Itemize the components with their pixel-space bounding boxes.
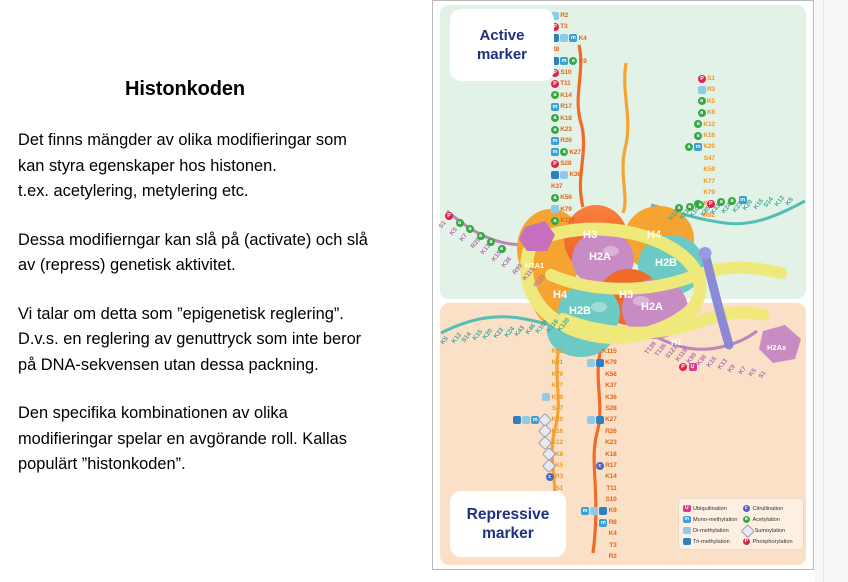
residue-row: mK9 — [581, 505, 617, 516]
residue-label: K79 — [560, 204, 572, 215]
residue-label: K36 — [569, 169, 581, 180]
paragraph-1: Det finns mängder av olika modifieringar… — [18, 128, 430, 205]
ac-icon: a — [498, 245, 506, 253]
residue-label: K79 — [552, 369, 564, 380]
core-label-h2a-top: H2A — [589, 251, 611, 263]
residue-row: K36 — [551, 169, 587, 180]
residue-label: K20 — [703, 141, 715, 152]
residue-label: S10 — [560, 67, 571, 78]
residue-label: K16 — [552, 426, 564, 437]
ac-icon: a — [569, 57, 577, 65]
residue-label: K59 — [703, 164, 715, 175]
residue-row: K5 — [463, 460, 563, 471]
residue-row: K79 — [685, 187, 715, 198]
residue-row: aK12 — [685, 119, 715, 130]
legend-item: mMono-methylation — [683, 514, 740, 525]
residue-label: K16 — [703, 130, 715, 141]
residue-row: R26 — [581, 426, 617, 437]
residue-label: K5 — [707, 96, 715, 107]
legend-item-label: Mono-methylation — [693, 517, 737, 523]
me1-icon: m — [551, 148, 559, 156]
legend-item-label: Sumoylation — [755, 528, 786, 534]
residue-label: K4 — [609, 528, 617, 539]
residue-label: R8 — [609, 517, 617, 528]
ac-icon: a — [487, 238, 495, 246]
residue-label: K9 — [579, 56, 587, 67]
me1-icon: m — [551, 137, 559, 145]
ac-icon: a — [477, 232, 485, 240]
residue-label: R17 — [605, 460, 617, 471]
paragraph-2: Dessa modifierngar kan slå på (activate)… — [18, 228, 430, 279]
residue-row: cR3 — [463, 471, 563, 482]
residue-row: PS1 — [685, 73, 715, 84]
residue-row: mR8 — [581, 517, 617, 528]
residue-row: K37 — [551, 181, 587, 192]
residue-label: K36 — [605, 392, 617, 403]
gutter-divider — [823, 0, 824, 582]
tail-repressive-h3: K115K79K56K37K36S28K27R26K23K18cR17K14T1… — [581, 346, 617, 562]
me1-icon: m — [569, 34, 577, 42]
residue-label: K37 — [551, 181, 563, 192]
residue-row: mK4 — [551, 33, 587, 44]
paragraph-4: Den specifika kombinationen av olikamodi… — [18, 401, 430, 478]
ac-icon: a — [551, 91, 559, 99]
legend-item: Sumoylation — [743, 525, 800, 536]
residue-row: maK9 — [551, 56, 587, 67]
residue-row: PT11 — [551, 78, 587, 89]
residue-label: K115 — [602, 346, 617, 357]
residue-row: mK20 — [463, 414, 563, 425]
core-label-h4-top: H4 — [647, 229, 661, 241]
residue-label: K9 — [609, 505, 617, 516]
residue-row: aK56 — [551, 192, 587, 203]
residue-row: K79 — [581, 357, 617, 368]
residue-row: K27 — [581, 414, 617, 425]
legend-item: UUbiquitination — [683, 503, 740, 514]
residue-row: K56 — [581, 369, 617, 380]
ph-icon: P — [445, 212, 453, 220]
me2-icon — [542, 393, 550, 401]
slide-text-column: Histonkoden Det finns mängder av olika m… — [0, 0, 430, 582]
residue-label: K77 — [703, 176, 715, 187]
residue-row: K14 — [581, 471, 617, 482]
me2-icon — [551, 205, 559, 213]
h2a-ub-ph-group: P U — [679, 363, 697, 371]
residue-label: T11 — [560, 78, 570, 89]
residue-label: R2 — [560, 10, 568, 21]
core-label-h3-bottom: H3 — [619, 289, 633, 301]
residue-label: R2 — [609, 551, 617, 562]
residue-row: R3 — [685, 84, 715, 95]
ph-icon: P — [698, 75, 706, 83]
residue-row: cR17 — [581, 460, 617, 471]
residue-row: aK8 — [685, 107, 715, 118]
residue-label: R26 — [560, 135, 572, 146]
ci-icon: c — [596, 462, 604, 470]
residue-label: R3 — [555, 471, 563, 482]
ac-icon: a — [694, 120, 702, 128]
legend-item-label: Di-methylation — [693, 528, 729, 534]
residue-row: K16 — [463, 426, 563, 437]
residue-row: K59 — [463, 392, 563, 403]
tail-repressive-h4: R92K91K79K77K59S47mK20K16K12K8K5cR3S1 — [463, 346, 563, 494]
page-title: Histonkoden — [0, 78, 370, 101]
slide-body-copy: Det finns mängder av olika modifieringar… — [18, 128, 430, 478]
active-marker-label: Activemarker — [450, 9, 554, 81]
me2-icon — [590, 507, 598, 515]
ubiquitination-icon: U — [689, 363, 697, 371]
legend-item-label: Ubiquitination — [693, 506, 727, 512]
residue-label: K56 — [605, 369, 617, 380]
ac-icon: a — [686, 203, 694, 211]
me3-icon — [513, 416, 521, 424]
residue-row: K59 — [685, 164, 715, 175]
residue-row: R8 — [551, 44, 587, 55]
residue-row: S28 — [581, 403, 617, 414]
residue-label: K4 — [579, 33, 587, 44]
me1-icon: m — [739, 196, 747, 204]
residue-row: R2 — [551, 10, 587, 21]
ph-icon: P — [743, 538, 751, 546]
residue-row: PS10 — [551, 67, 587, 78]
residue-row: K4 — [581, 528, 617, 539]
residue-row: S47 — [685, 153, 715, 164]
residue-row: aK16 — [685, 130, 715, 141]
histone-code-diagram: H3 H2A H4 H2B H4 H3 H2B H2A H2A1 H2Ax H1… — [432, 0, 814, 570]
legend-item-label: Citrullination — [753, 506, 784, 512]
me3-icon — [683, 538, 691, 546]
me1-icon: m — [599, 519, 607, 527]
me2-icon — [683, 527, 691, 535]
residue-label: S28 — [605, 403, 616, 414]
residue-row: aK115 — [551, 215, 587, 226]
ac-icon: a — [694, 132, 702, 140]
residue-label: R26 — [605, 426, 617, 437]
core-label-h2ax: H2Ax — [767, 343, 786, 352]
residue-row: K37 — [581, 380, 617, 391]
residue-row: mR17 — [551, 101, 587, 112]
residue-row: K23 — [581, 437, 617, 448]
right-gutter — [815, 0, 848, 582]
me2-icon — [587, 416, 595, 424]
ac-icon: a — [728, 197, 736, 205]
residue-label: K8 — [555, 449, 563, 460]
tail-active-h4: PS1R3aK5aK8aK12aK16amK20S47K59K77K79aK91… — [685, 73, 715, 221]
residue-row: K79 — [551, 204, 587, 215]
ub-icon: U — [683, 505, 691, 513]
residue-row: K115 — [581, 346, 617, 357]
me1-icon: m — [560, 57, 568, 65]
ac-icon: a — [685, 143, 693, 151]
me2-icon — [560, 171, 568, 179]
residue-label: K77 — [552, 380, 564, 391]
residue-label: K12 — [552, 437, 564, 448]
me3-icon — [551, 171, 559, 179]
residue-label: S47 — [704, 153, 715, 164]
residue-row: aK5 — [685, 96, 715, 107]
me3-icon — [596, 416, 604, 424]
residue-row: R2 — [581, 551, 617, 562]
residue-label: K91 — [552, 357, 564, 368]
residue-label: K27 — [569, 147, 581, 158]
residue-label: K20 — [552, 414, 564, 425]
me1-icon: m — [683, 516, 691, 524]
me1-icon: m — [694, 143, 702, 151]
residue-row: aK14 — [551, 90, 587, 101]
residue-label: K18 — [605, 449, 617, 460]
me2-icon — [698, 86, 706, 94]
repressive-marker-text: Repressivemarker — [467, 505, 550, 543]
ac-icon: a — [675, 204, 683, 212]
residue-label: K18 — [560, 113, 572, 124]
ph-icon: P — [551, 80, 559, 88]
legend-item: aAcetylation — [743, 514, 800, 525]
residue-row: K91 — [463, 357, 563, 368]
legend-item-label: Tri-methylation — [693, 539, 730, 545]
legend-item: Tri-methylation — [683, 536, 740, 547]
ac-icon: a — [466, 225, 474, 233]
residue-row: T3 — [581, 540, 617, 551]
residue-label: K56 — [560, 192, 572, 203]
residue-label: K14 — [560, 90, 572, 101]
ac-icon: a — [551, 114, 559, 122]
residue-label: K37 — [605, 380, 617, 391]
repressive-marker-label: Repressivemarker — [450, 491, 566, 557]
me3-icon — [599, 507, 607, 515]
residue-row: aK23 — [551, 124, 587, 135]
modification-legend: UUbiquitinationcCitrullinationmMono-meth… — [678, 498, 804, 550]
residue-label: K23 — [605, 437, 617, 448]
residue-label: S1 — [707, 73, 715, 84]
me1-icon: m — [551, 103, 559, 111]
residue-label: T11 — [606, 483, 616, 494]
residue-row: maK27 — [551, 147, 587, 158]
residue-label: R17 — [560, 101, 572, 112]
ac-icon: a — [698, 109, 706, 117]
residue-row: K77 — [463, 380, 563, 391]
legend-item: cCitrullination — [743, 503, 800, 514]
ac-icon: a — [698, 97, 706, 105]
residue-row: aK18 — [551, 113, 587, 124]
residue-row: K79 — [463, 369, 563, 380]
legend-item: PPhosphorylation — [743, 536, 800, 547]
ph-icon: P — [707, 200, 715, 208]
me3-icon — [596, 359, 604, 367]
residue-label: R92 — [552, 346, 564, 357]
residue-row: T11 — [581, 483, 617, 494]
residue-row: K18 — [581, 449, 617, 460]
residue-label: K27 — [605, 414, 617, 425]
ac-icon: a — [551, 126, 559, 134]
ci-icon: c — [743, 505, 751, 513]
ph-icon: P — [551, 160, 559, 168]
paragraph-3: Vi talar om detta som ”epigenetisk regle… — [18, 302, 430, 379]
legend-item: Di-methylation — [683, 525, 740, 536]
me2-icon — [560, 34, 568, 42]
core-label-h2b-bottom: H2B — [569, 305, 591, 317]
ac-icon: a — [456, 219, 464, 227]
residue-label: T3 — [560, 21, 567, 32]
residue-row: amK20 — [685, 141, 715, 152]
residue-label: K23 — [560, 124, 572, 135]
core-label-h2a-bottom: H2A — [641, 301, 663, 313]
core-label-h4-bottom: H4 — [553, 289, 567, 301]
residue-row: K77 — [685, 176, 715, 187]
ac-icon: a — [551, 194, 559, 202]
residue-label: S47 — [552, 403, 563, 414]
residue-row: S10 — [581, 494, 617, 505]
residue-row: R92 — [463, 346, 563, 357]
residue-label: K59 — [552, 392, 564, 403]
phosphorylation-icon: P — [679, 363, 687, 371]
residue-label: K8 — [707, 107, 715, 118]
ac-icon: a — [560, 148, 568, 156]
residue-label: K115 — [560, 215, 575, 226]
active-marker-text: Activemarker — [477, 26, 527, 64]
residue-label: S28 — [560, 158, 571, 169]
ci-icon: c — [546, 473, 554, 481]
residue-label: K79 — [605, 357, 617, 368]
residue-label: K79 — [703, 187, 715, 198]
residue-row: K8 — [463, 449, 563, 460]
residue-row: K36 — [581, 392, 617, 403]
legend-item-label: Phosphorylation — [753, 539, 793, 545]
residue-label: K5 — [555, 460, 563, 471]
residue-row: mR26 — [551, 135, 587, 146]
residue-label: T3 — [609, 540, 616, 551]
residue-row: S47 — [463, 403, 563, 414]
tail-active-h3: R2PT3mK4R8maK9PS10PT11aK14mR17aK18aK23mR… — [551, 10, 587, 226]
residue-label: K14 — [605, 471, 617, 482]
me1-icon: m — [581, 507, 589, 515]
core-label-h3-top: H3 — [583, 229, 597, 241]
residue-row: PS28 — [551, 158, 587, 169]
residue-label: K12 — [703, 119, 715, 130]
residue-row: PT3 — [551, 21, 587, 32]
core-label-h2b-top: H2B — [655, 257, 677, 269]
me2-icon — [522, 416, 530, 424]
legend-item-label: Acetylation — [753, 517, 780, 523]
residue-label: S10 — [605, 494, 616, 505]
ac-icon: a — [551, 217, 559, 225]
ac-icon: a — [743, 516, 751, 524]
me2-icon — [587, 359, 595, 367]
residue-label: R3 — [707, 84, 715, 95]
